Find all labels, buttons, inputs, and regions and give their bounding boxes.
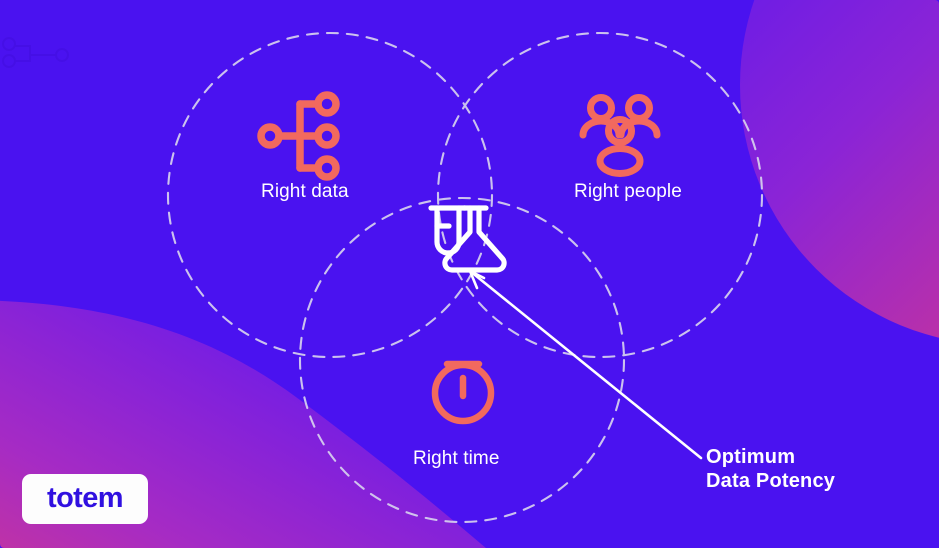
people-group-icon [583, 98, 657, 174]
totem-logo-text: totem [47, 484, 123, 513]
infographic-canvas: Right data Right people Right time Optim… [0, 0, 939, 548]
venn-label-right-data: Right data [261, 182, 349, 201]
venn-circle-right-time [300, 198, 624, 522]
callout-line-2: Data Potency [706, 470, 835, 494]
stopwatch-icon [435, 364, 491, 421]
venn-label-right-time: Right time [413, 449, 500, 468]
callout-label: Optimum Data Potency [706, 446, 835, 493]
callout-arrow [470, 271, 701, 458]
totem-logo[interactable]: totem [22, 474, 148, 524]
venn-label-right-people: Right people [574, 182, 682, 201]
callout-line-1: Optimum [706, 446, 835, 470]
data-hierarchy-icon [261, 95, 336, 177]
lab-flasks-icon [431, 208, 504, 270]
